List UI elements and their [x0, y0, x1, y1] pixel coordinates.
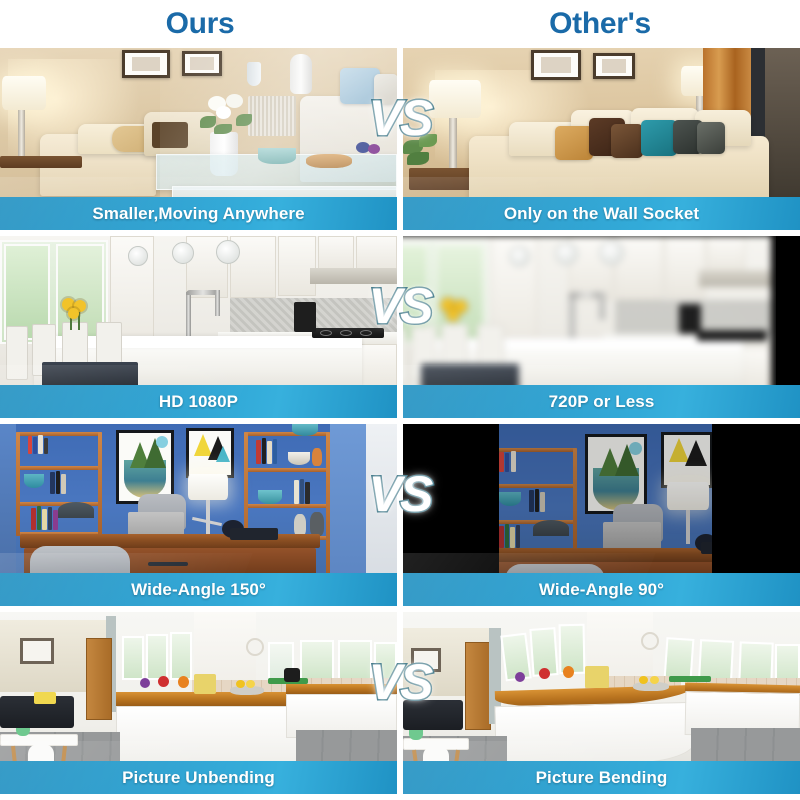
- panel-ours-size-mobility: Smaller,Moving Anywhere: [0, 48, 397, 230]
- caption-text: 720P or Less: [549, 392, 655, 412]
- caption-bar: Smaller,Moving Anywhere: [0, 197, 397, 230]
- page-title-ours: Ours: [166, 9, 235, 39]
- panel-others-distortion: Picture Bending: [403, 612, 800, 794]
- caption-text: Picture Unbending: [122, 768, 275, 788]
- vs-badge: VS: [369, 469, 432, 519]
- header-column-others: Other's: [400, 0, 800, 48]
- vs-badge: VS: [369, 281, 432, 331]
- caption-text: Only on the Wall Socket: [504, 204, 699, 224]
- header-column-ours: Ours: [0, 0, 400, 48]
- comparison-row-field-of-view: Wide-Angle 150°: [0, 424, 800, 612]
- caption-bar: Only on the Wall Socket: [403, 197, 800, 230]
- header: Ours Other's: [0, 0, 800, 48]
- letterbox-bar-right: [712, 424, 800, 573]
- caption-text: Wide-Angle 90°: [539, 580, 664, 600]
- panel-others-field-of-view: Wide-Angle 90°: [403, 424, 800, 606]
- comparison-rows: Smaller,Moving Anywhere: [0, 48, 800, 800]
- panel-ours-resolution: HD 1080P: [0, 236, 397, 418]
- panel-others-resolution: 720P or Less: [403, 236, 800, 418]
- comparison-row-distortion: Picture Unbending: [0, 612, 800, 800]
- panel-ours-distortion: Picture Unbending: [0, 612, 397, 794]
- caption-bar: Picture Bending: [403, 761, 800, 794]
- panel-ours-field-of-view: Wide-Angle 150°: [0, 424, 397, 606]
- caption-text: HD 1080P: [159, 392, 238, 412]
- letterbox-bar-right: [776, 236, 800, 385]
- comparison-row-resolution: HD 1080P: [0, 236, 800, 424]
- comparison-infographic: Ours Other's: [0, 0, 800, 800]
- panel-others-size-mobility: Only on the Wall Socket: [403, 48, 800, 230]
- vs-badge: VS: [369, 657, 432, 707]
- caption-bar: 720P or Less: [403, 385, 800, 418]
- page-title-others: Other's: [549, 9, 651, 39]
- comparison-row-size-mobility: Smaller,Moving Anywhere: [0, 48, 800, 236]
- caption-bar: Wide-Angle 150°: [0, 573, 397, 606]
- caption-text: Wide-Angle 150°: [131, 580, 266, 600]
- vs-badge: VS: [369, 93, 432, 143]
- caption-bar: Picture Unbending: [0, 761, 397, 794]
- caption-bar: HD 1080P: [0, 385, 397, 418]
- caption-text: Picture Bending: [536, 768, 668, 788]
- caption-bar: Wide-Angle 90°: [403, 573, 800, 606]
- caption-text: Smaller,Moving Anywhere: [92, 204, 304, 224]
